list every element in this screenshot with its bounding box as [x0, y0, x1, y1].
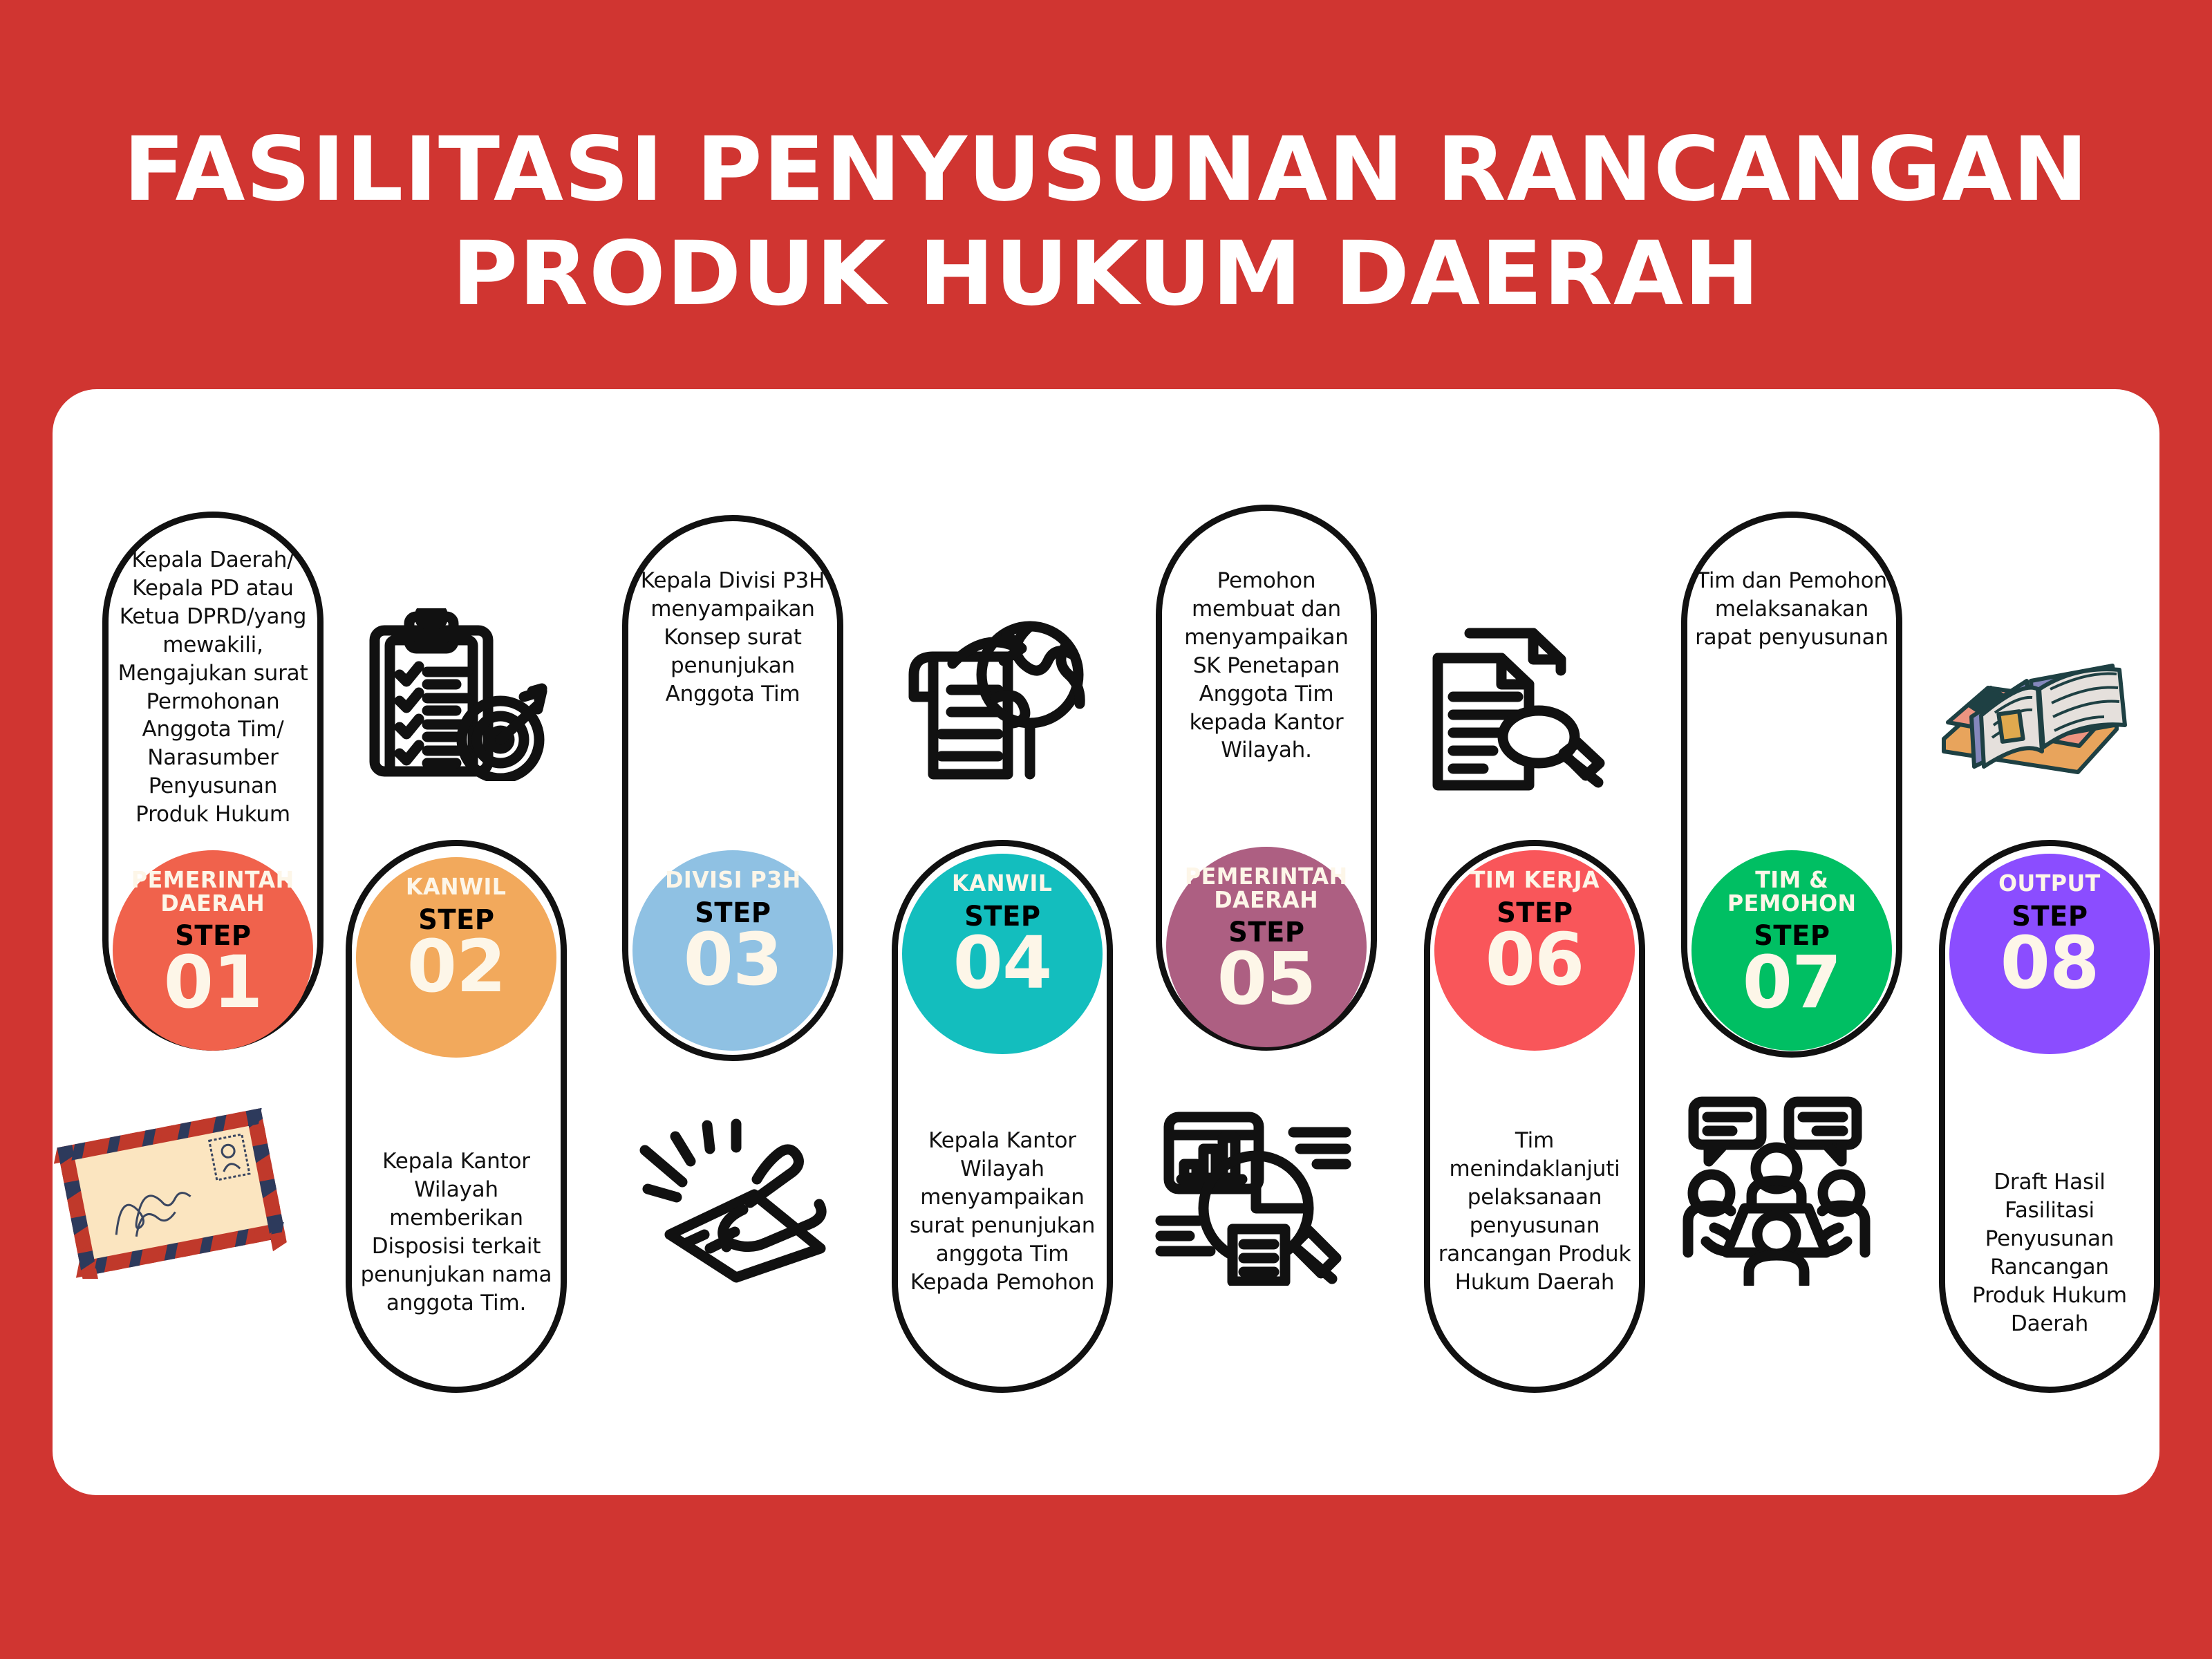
step-word-02: STEP — [418, 904, 494, 936]
title-line-2: PRODUK HUKUM DAERAH — [0, 222, 2212, 326]
step-role-05: PEMERINTAHDAERAH — [1185, 865, 1348, 911]
step-badge-03[interactable]: DIVISI P3H STEP 03 — [632, 850, 833, 1051]
step-role-03: DIVISI P3H — [665, 868, 801, 892]
clipboard-target-icon — [353, 608, 560, 781]
step-role-06: TIM KERJA — [1470, 868, 1599, 892]
step-number-07: 07 — [1743, 949, 1841, 1017]
step-description-01: Kepala Daerah/ Kepala PD atau Ketua DPRD… — [116, 546, 310, 829]
step-word-04: STEP — [964, 901, 1040, 932]
step-badge-04[interactable]: KANWIL STEP 04 — [902, 854, 1103, 1054]
step-word-08: STEP — [2012, 901, 2088, 932]
step-number-05: 05 — [1217, 946, 1316, 1013]
open-books-icon — [1929, 632, 2143, 778]
step-badge-05[interactable]: PEMERINTAHDAERAH STEP 05 — [1166, 847, 1367, 1047]
hand-signing-icon — [632, 1113, 840, 1286]
step-badge-08[interactable]: OUTPUT STEP 08 — [1949, 854, 2150, 1054]
step-number-06: 06 — [1485, 926, 1584, 994]
step-word-06: STEP — [1497, 897, 1573, 929]
step-description-06: Tim menindaklanjuti pelaksanaan penyusun… — [1438, 1127, 1631, 1296]
step-role-02: KANWIL — [406, 875, 506, 899]
step-badge-06[interactable]: TIM KERJA STEP 06 — [1434, 850, 1635, 1051]
airmail-envelope-icon — [54, 1106, 289, 1279]
step-badge-02[interactable]: KANWIL STEP 02 — [356, 857, 556, 1058]
step-description-08: Draft Hasil Fasilitasi Penyusunan Rancan… — [1953, 1168, 2146, 1338]
step-role-08: OUTPUT — [1998, 872, 2101, 895]
step-word-01: STEP — [175, 920, 251, 952]
step-description-04: Kepala Kantor Wilayah menyampaikan surat… — [906, 1127, 1099, 1296]
page-title: FASILITASI PENYUSUNAN RANCANGAN PRODUK H… — [0, 118, 2212, 326]
step-number-04: 04 — [953, 930, 1052, 997]
step-badge-07[interactable]: TIM &PEMOHON STEP 07 — [1691, 850, 1892, 1051]
step-description-03: Kepala Divisi P3H menyampaikan Konsep su… — [636, 567, 829, 709]
step-role-01: PEMERINTAHDAERAH — [131, 868, 294, 915]
step-role-07: TIM &PEMOHON — [1727, 868, 1857, 915]
step-word-05: STEP — [1228, 917, 1304, 948]
analytics-magnifier-icon — [1151, 1106, 1358, 1286]
title-line-1: FASILITASI PENYUSUNAN RANCANGAN — [0, 118, 2212, 222]
step-description-07: Tim dan Pemohon melaksanakan rapat penyu… — [1695, 567, 1888, 652]
document-globe-share-icon — [885, 615, 1092, 788]
step-word-07: STEP — [1754, 920, 1830, 952]
step-description-05: Pemohon membuat dan menyampaikan SK Pene… — [1170, 567, 1363, 765]
step-number-08: 08 — [2000, 930, 2099, 997]
document-review-icon — [1417, 622, 1618, 795]
step-number-03: 03 — [684, 926, 782, 994]
meeting-people-icon — [1673, 1092, 1880, 1286]
step-description-02: Kepala Kantor Wilayah memberikan Disposi… — [359, 1147, 553, 1317]
step-number-01: 01 — [164, 949, 263, 1017]
step-number-02: 02 — [407, 933, 506, 1001]
step-word-03: STEP — [695, 897, 771, 929]
step-badge-01[interactable]: PEMERINTAHDAERAH STEP 01 — [113, 850, 313, 1051]
step-role-04: KANWIL — [952, 872, 1052, 895]
